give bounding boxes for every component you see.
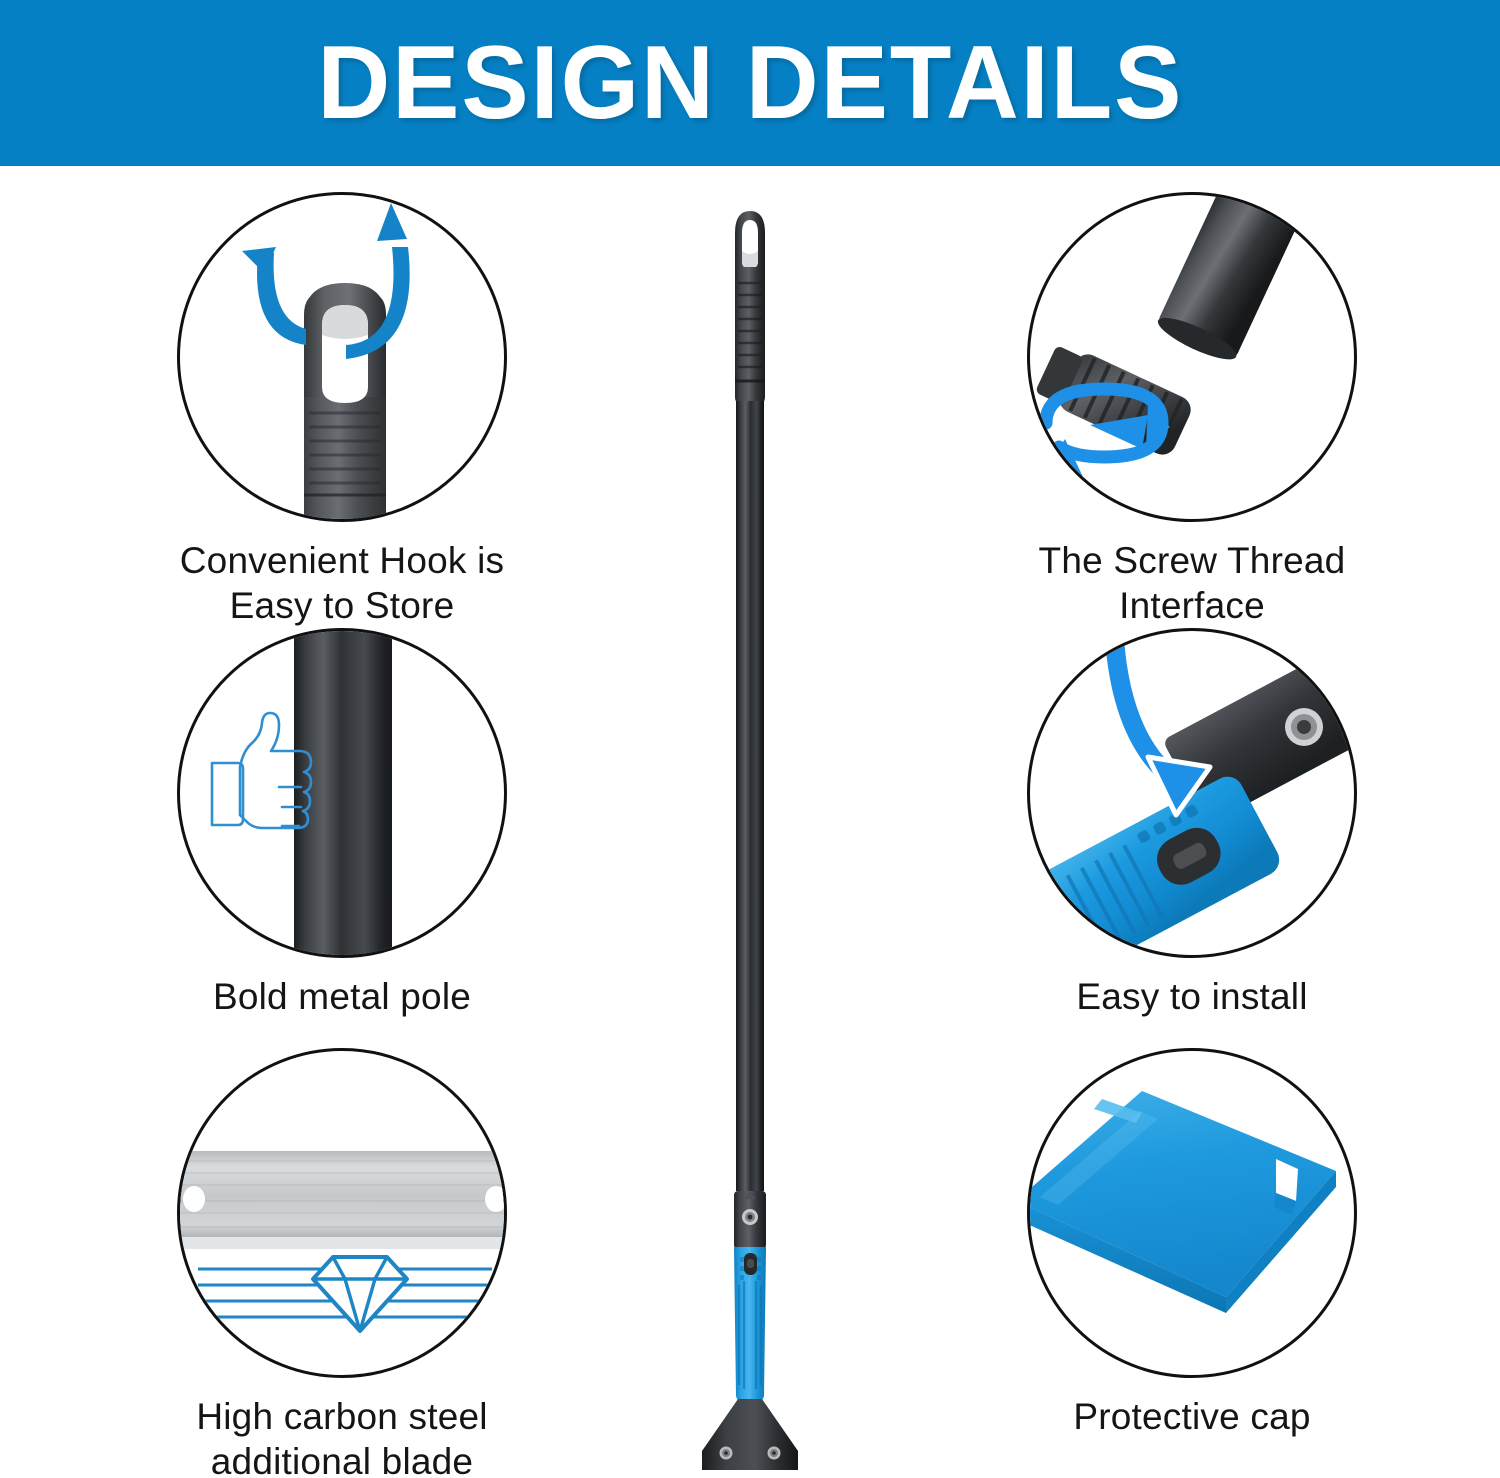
feature-circle <box>177 628 507 958</box>
feature-caption: Easy to install <box>992 974 1392 1019</box>
product-image-floor-scraper <box>640 195 860 1470</box>
design-details-page: DESIGN DETAILS <box>0 0 1500 1478</box>
feature-caption: Bold metal pole <box>142 974 542 1019</box>
down-arrow-icon <box>1030 631 1357 958</box>
feature-bold-metal-pole: Bold metal pole <box>142 628 542 1019</box>
caption-line: Convenient Hook is <box>142 538 542 583</box>
header-banner: DESIGN DETAILS <box>0 0 1500 166</box>
circle-wrap <box>177 628 507 958</box>
caption-line: additional blade <box>142 1439 542 1478</box>
caption-line: Bold metal pole <box>142 974 542 1019</box>
feature-circle <box>1027 1048 1357 1378</box>
feature-circle <box>177 1048 507 1378</box>
thumbs-up-icon <box>180 631 507 958</box>
caption-line: The Screw Thread Interface <box>992 538 1392 628</box>
feature-high-carbon-blade: High carbon steel additional blade <box>142 1048 542 1478</box>
circle-wrap <box>1027 192 1357 522</box>
circle-wrap <box>1027 628 1357 958</box>
hook-with-rotation-arrows-icon <box>180 195 507 522</box>
floor-scraper-illustration <box>640 195 860 1470</box>
feature-circle <box>1027 192 1357 522</box>
rotation-arrow-icon <box>1030 195 1357 522</box>
caption-line: Protective cap <box>992 1394 1392 1439</box>
circle-wrap <box>177 192 507 522</box>
feature-circle <box>1027 628 1357 958</box>
circle-wrap <box>177 1048 507 1378</box>
feature-screw-thread-interface: The Screw Thread Interface <box>992 192 1392 628</box>
caption-line: High carbon steel <box>142 1394 542 1439</box>
cap-icon <box>1030 1051 1357 1378</box>
feature-caption: Convenient Hook is Easy to Store <box>142 538 542 628</box>
circle-wrap <box>1027 1048 1357 1378</box>
caption-line: Easy to install <box>992 974 1392 1019</box>
feature-easy-to-install: Easy to install <box>992 628 1392 1019</box>
feature-convenient-hook: Convenient Hook is Easy to Store <box>142 192 542 628</box>
feature-caption: Protective cap <box>992 1394 1392 1439</box>
caption-line: Easy to Store <box>142 583 542 628</box>
feature-circle <box>177 192 507 522</box>
diamond-icon <box>180 1051 507 1378</box>
feature-protective-cap: Protective cap <box>992 1048 1392 1439</box>
feature-caption: The Screw Thread Interface <box>992 538 1392 628</box>
page-title: DESIGN DETAILS <box>317 31 1183 135</box>
feature-caption: High carbon steel additional blade <box>142 1394 542 1478</box>
